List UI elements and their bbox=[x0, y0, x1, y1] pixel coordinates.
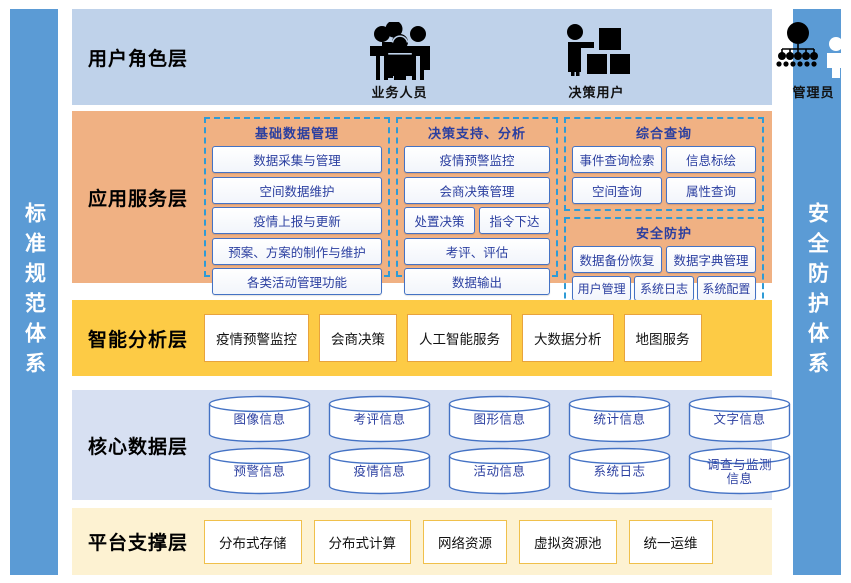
app-item[interactable]: 疫情预警监控 bbox=[404, 146, 550, 173]
app-item[interactable]: 数据备份恢复 bbox=[572, 246, 662, 273]
app-group-title: 决策支持、分析 bbox=[404, 123, 550, 142]
role-item-decision-user[interactable]: 决策用户 bbox=[509, 18, 684, 101]
layer-user-role: 用户角色层 bbox=[72, 9, 772, 105]
ai-item[interactable]: 疫情预警监控 bbox=[204, 314, 309, 362]
app-item[interactable]: 疫情上报与更新 bbox=[212, 207, 382, 234]
platform-item[interactable]: 网络资源 bbox=[423, 520, 507, 564]
database-cylinder[interactable]: 系统日志 bbox=[568, 447, 671, 495]
role-label: 决策用户 bbox=[568, 82, 624, 101]
database-label: 图形信息 bbox=[448, 413, 551, 427]
database-label: 预警信息 bbox=[208, 465, 311, 479]
database-cylinder[interactable]: 疫情信息 bbox=[328, 447, 431, 495]
app-item[interactable]: 处置决策 bbox=[404, 207, 475, 234]
platform-item[interactable]: 分布式存储 bbox=[204, 520, 302, 564]
layer-intelligent-analysis-title: 智能分析层 bbox=[72, 325, 204, 352]
database-cylinder[interactable]: 调查与监测信息 bbox=[688, 447, 791, 495]
database-label: 系统日志 bbox=[568, 465, 671, 479]
database-label: 活动信息 bbox=[448, 465, 551, 479]
app-item[interactable]: 系统日志 bbox=[634, 276, 693, 301]
app-item[interactable]: 各类活动管理功能 bbox=[212, 268, 382, 295]
app-item[interactable]: 数据输出 bbox=[404, 268, 550, 295]
role-item-business-staff[interactable]: 业务人员 bbox=[312, 18, 487, 101]
app-group-security-protection: 安全防护 数据备份恢复 数据字典管理 用户管理 系统日志 系统配置 bbox=[564, 217, 764, 309]
database-label: 考评信息 bbox=[328, 413, 431, 427]
layer-platform-support-title: 平台支撑层 bbox=[72, 528, 204, 555]
layer-core-data: 核心数据层 图像信息 考评信息 图形信息 统计信息 bbox=[72, 390, 772, 500]
platform-item[interactable]: 虚拟资源池 bbox=[519, 520, 617, 564]
right-rail-label: 安全防护体系 bbox=[807, 202, 828, 382]
platform-item[interactable]: 分布式计算 bbox=[314, 520, 412, 564]
left-rail-standards: 标准规范体系 bbox=[10, 9, 58, 575]
app-group-title: 基础数据管理 bbox=[212, 123, 382, 142]
app-item[interactable]: 会商决策管理 bbox=[404, 177, 550, 204]
app-item[interactable]: 预案、方案的制作与维护 bbox=[212, 238, 382, 265]
people-group-icon bbox=[364, 18, 436, 80]
database-cylinder[interactable]: 图像信息 bbox=[208, 395, 311, 443]
database-label: 文字信息 bbox=[688, 413, 791, 427]
platform-item[interactable]: 统一运维 bbox=[629, 520, 713, 564]
database-label: 图像信息 bbox=[208, 413, 311, 427]
app-item[interactable]: 指令下达 bbox=[479, 207, 550, 234]
database-cylinder[interactable]: 统计信息 bbox=[568, 395, 671, 443]
person-with-blocks-icon bbox=[561, 18, 633, 80]
database-cylinder[interactable]: 文字信息 bbox=[688, 395, 791, 443]
database-label: 疫情信息 bbox=[328, 465, 431, 479]
ai-item[interactable]: 大数据分析 bbox=[522, 314, 614, 362]
app-item[interactable]: 空间查询 bbox=[572, 177, 662, 204]
ai-item[interactable]: 地图服务 bbox=[624, 314, 702, 362]
layer-application-service-title: 应用服务层 bbox=[72, 184, 204, 211]
app-item[interactable]: 信息标绘 bbox=[666, 146, 756, 173]
database-label: 统计信息 bbox=[568, 413, 671, 427]
app-item[interactable]: 数据采集与管理 bbox=[212, 146, 382, 173]
ai-item[interactable]: 会商决策 bbox=[319, 314, 397, 362]
database-cylinder[interactable]: 活动信息 bbox=[448, 447, 551, 495]
app-group-title: 综合查询 bbox=[572, 123, 756, 142]
role-label: 业务人员 bbox=[371, 82, 427, 101]
app-item[interactable]: 系统配置 bbox=[697, 276, 756, 301]
layer-platform-support: 平台支撑层 分布式存储 分布式计算 网络资源 虚拟资源池 统一运维 bbox=[72, 508, 772, 575]
app-item[interactable]: 空间数据维护 bbox=[212, 177, 382, 204]
app-item[interactable]: 考评、评估 bbox=[404, 238, 550, 265]
app-item[interactable]: 属性查询 bbox=[666, 177, 756, 204]
role-label: 管理员 bbox=[792, 82, 834, 101]
role-item-administrator[interactable]: 管理员 bbox=[726, 18, 851, 101]
app-group-basic-data: 基础数据管理 数据采集与管理 空间数据维护 疫情上报与更新 预案、方案的制作与维… bbox=[204, 117, 390, 277]
architecture-diagram: 标准规范体系 安全防护体系 用户角色层 bbox=[0, 0, 851, 583]
core-data-grid: 图像信息 考评信息 图形信息 统计信息 文字信息 bbox=[204, 390, 791, 500]
org-hierarchy-person-icon bbox=[772, 18, 851, 80]
app-group-comprehensive-query: 综合查询 事件查询检索 信息标绘 空间查询 属性查询 bbox=[564, 117, 764, 211]
layer-application-service: 应用服务层 基础数据管理 数据采集与管理 空间数据维护 疫情上报与更新 预案、方… bbox=[72, 111, 772, 283]
database-cylinder[interactable]: 预警信息 bbox=[208, 447, 311, 495]
database-cylinder[interactable]: 图形信息 bbox=[448, 395, 551, 443]
app-item[interactable]: 用户管理 bbox=[572, 276, 631, 301]
app-group-decision-support: 决策支持、分析 疫情预警监控 会商决策管理 处置决策 指令下达 考评、评估 数据… bbox=[396, 117, 558, 277]
left-rail-label: 标准规范体系 bbox=[24, 202, 45, 382]
ai-item[interactable]: 人工智能服务 bbox=[407, 314, 512, 362]
layer-user-role-title: 用户角色层 bbox=[72, 44, 204, 71]
layer-intelligent-analysis: 智能分析层 疫情预警监控 会商决策 人工智能服务 大数据分析 地图服务 bbox=[72, 300, 772, 376]
app-item[interactable]: 事件查询检索 bbox=[572, 146, 662, 173]
database-cylinder[interactable]: 考评信息 bbox=[328, 395, 431, 443]
app-item[interactable]: 数据字典管理 bbox=[666, 246, 756, 273]
database-label: 调查与监测信息 bbox=[688, 458, 791, 487]
layer-core-data-title: 核心数据层 bbox=[72, 432, 204, 459]
app-group-title: 安全防护 bbox=[572, 223, 756, 242]
